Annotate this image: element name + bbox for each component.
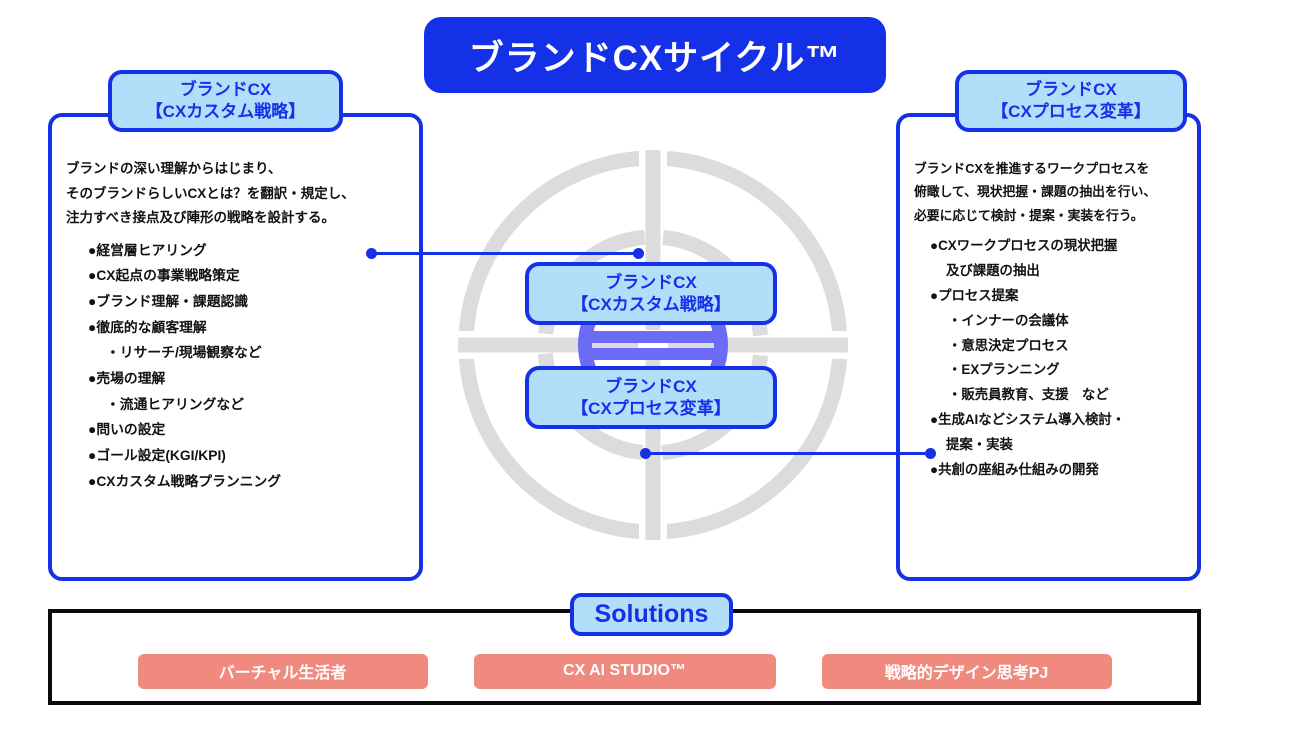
panel-right-header-line1: ブランドCX <box>1025 79 1117 101</box>
list-item: ●売場の理解 <box>66 366 405 392</box>
page-title-text: ブランドCXサイクル™ <box>469 30 842 81</box>
panel-left-header-line2: 【CXカスタム戦略】 <box>146 101 306 123</box>
panel-left-header: ブランドCX 【CXカスタム戦略】 <box>108 70 343 132</box>
list-item: 及び課題の抽出 <box>914 259 1183 284</box>
center-box-2-line2: 【CXプロセス変革】 <box>571 398 731 420</box>
center-box-1-line2: 【CXカスタム戦略】 <box>571 294 731 316</box>
intro-line: そのブランドらしいCXとは？を翻訳・規定し、 <box>66 182 405 207</box>
list-item: ●CXワークプロセスの現状把握 <box>914 234 1183 259</box>
connector-left-outer-dot <box>366 248 377 259</box>
connector-right-inner-dot <box>640 448 651 459</box>
list-item: ●プロセス提案 <box>914 284 1183 309</box>
list-item: ・EXプランニング <box>914 358 1183 383</box>
list-item: ・インナーの会議体 <box>914 309 1183 334</box>
list-item: ・意思決定プロセス <box>914 334 1183 359</box>
panel-right-header: ブランドCX 【CXプロセス変革】 <box>955 70 1187 132</box>
bullet-list: ●CXワークプロセスの現状把握 及び課題の抽出 ●プロセス提案 ・インナーの会議… <box>914 234 1183 483</box>
intro-line: ブランドCXを推進するワークプロセスを <box>914 157 1183 180</box>
center-box-2-line1: ブランドCX <box>605 376 697 398</box>
list-item: ●ゴール設定(KGI/KPI) <box>66 443 405 469</box>
solutions-list: バーチャル生活者 CX AI STUDIO™ 戦略的デザイン思考PJ <box>48 652 1201 690</box>
panel-right-body: ブランドCXを推進するワークプロセスを 俯瞰して、現状把握・課題の抽出を行い、 … <box>900 157 1197 483</box>
solution-item[interactable]: バーチャル生活者 <box>138 654 428 689</box>
panel-left-body: ブランドの深い理解からはじまり、 そのブランドらしいCXとは？を翻訳・規定し、 … <box>52 157 419 494</box>
cycle-ring-graphic <box>433 95 873 595</box>
intro-line: 必要に応じて検討・提案・実装を行う。 <box>914 204 1183 227</box>
panel-right-header-line2: 【CXプロセス変革】 <box>991 101 1151 123</box>
connector-right <box>645 452 930 455</box>
center-box-1-line1: ブランドCX <box>605 272 697 294</box>
list-item: ●CXカスタム戦略プランニング <box>66 469 405 495</box>
connector-right-outer-dot <box>925 448 936 459</box>
list-item: ●共創の座組み仕組みの開発 <box>914 458 1183 483</box>
list-item: ●ブランド理解・課題認識 <box>66 289 405 315</box>
diagram-canvas: ブランドCXサイクル™ ブランドの深い理解からはじまり、 そのブランドらしいCX… <box>0 0 1300 731</box>
list-item: ・販売員教育、支援 など <box>914 383 1183 408</box>
outer-gray-ring <box>451 143 855 547</box>
list-item: ●問いの設定 <box>66 417 405 443</box>
solution-item[interactable]: CX AI STUDIO™ <box>474 654 776 689</box>
solutions-badge: Solutions <box>570 593 733 636</box>
list-item: ・流通ヒアリングなど <box>66 392 405 418</box>
panel-cx-custom-strategy: ブランドの深い理解からはじまり、 そのブランドらしいCXとは？を翻訳・規定し、 … <box>48 113 423 581</box>
intro-line: 注力すべき接点及び陣形の戦略を設計する。 <box>66 206 405 231</box>
page-title: ブランドCXサイクル™ <box>424 17 886 93</box>
panel-left-header-line1: ブランドCX <box>180 79 272 101</box>
panel-cx-process-transformation: ブランドCXを推進するワークプロセスを 俯瞰して、現状把握・課題の抽出を行い、 … <box>896 113 1201 581</box>
center-box-cx-process-transformation: ブランドCX 【CXプロセス変革】 <box>525 366 777 429</box>
solution-item[interactable]: 戦略的デザイン思考PJ <box>822 654 1112 689</box>
list-item: ●徹底的な顧客理解 <box>66 315 405 341</box>
intro-line: 俯瞰して、現状把握・課題の抽出を行い、 <box>914 180 1183 203</box>
list-item: ●経営層ヒアリング <box>66 238 405 264</box>
connector-left <box>370 252 638 255</box>
intro-line: ブランドの深い理解からはじまり、 <box>66 157 405 182</box>
list-item: ●生成AIなどシステム導入検討・ <box>914 408 1183 433</box>
list-item: ・リサーチ/現場観察など <box>66 340 405 366</box>
bullet-list: ●経営層ヒアリング ●CX起点の事業戦略策定 ●ブランド理解・課題認識 ●徹底的… <box>66 238 405 495</box>
list-item: 提案・実装 <box>914 433 1183 458</box>
solutions-badge-label: Solutions <box>595 600 709 629</box>
list-item: ●CX起点の事業戦略策定 <box>66 263 405 289</box>
center-box-cx-custom-strategy: ブランドCX 【CXカスタム戦略】 <box>525 262 777 325</box>
connector-left-inner-dot <box>633 248 644 259</box>
